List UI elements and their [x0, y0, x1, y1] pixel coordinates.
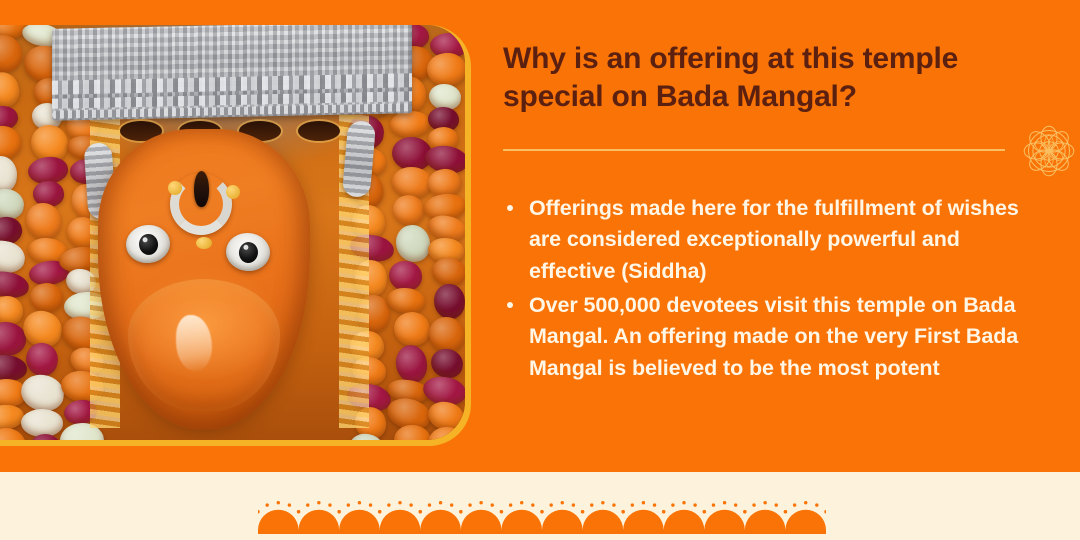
- marigold-flower: [19, 372, 67, 413]
- marigold-flower: [433, 283, 465, 319]
- marigold-flower: [427, 426, 465, 440]
- marigold-flower: [429, 83, 462, 110]
- tilak-bead: [196, 237, 212, 249]
- marigold-flower: [392, 167, 432, 198]
- silver-canopy-panel: [52, 25, 412, 121]
- marigold-flower: [0, 69, 23, 110]
- tilak-bead: [168, 181, 182, 195]
- bullet-text: Offerings made here for the fulfillment …: [529, 196, 1019, 283]
- canopy-band-lower: [52, 91, 412, 109]
- marigold-flower: [430, 347, 465, 380]
- marigold-flower: [394, 344, 428, 384]
- deity-eye-right: [224, 231, 271, 273]
- divider-row: [503, 139, 1043, 197]
- content-column: Why is an offering at this temple specia…: [503, 40, 1043, 386]
- marigold-flower: [392, 310, 432, 348]
- bullet-text: Over 500,000 devotees visit this temple …: [529, 293, 1018, 380]
- scalloped-arch-border: [258, 486, 826, 536]
- bullet-list: Offerings made here for the fulfillment …: [503, 193, 1043, 385]
- marigold-flower: [29, 281, 65, 313]
- marigold-flower: [0, 34, 22, 72]
- slide-canvas: Why is an offering at this temple specia…: [0, 0, 1080, 540]
- marigold-flower: [0, 295, 23, 325]
- marigold-flower: [429, 316, 465, 352]
- marigold-flower: [0, 354, 27, 381]
- marigold-flower: [389, 261, 422, 292]
- tilak-bead: [226, 185, 240, 199]
- bullet-dot-icon: [507, 205, 513, 211]
- temple-photo-frame: [0, 25, 471, 446]
- marigold-flower: [395, 223, 431, 262]
- slide-title: Why is an offering at this temple specia…: [503, 40, 1043, 117]
- marigold-flower: [394, 425, 432, 440]
- mandala-rosette-icon: [1018, 120, 1080, 182]
- list-item: Offerings made here for the fulfillment …: [503, 193, 1043, 288]
- pupil: [138, 233, 159, 256]
- plaque: [298, 121, 340, 141]
- marigold-flower: [390, 193, 427, 229]
- gold-divider-line: [503, 149, 1005, 151]
- pupil: [238, 241, 259, 264]
- marigold-flower: [20, 408, 63, 437]
- temple-deity-photo: [0, 25, 465, 440]
- forehead-tilak-drop: [194, 171, 209, 207]
- list-item: Over 500,000 devotees visit this temple …: [503, 290, 1043, 385]
- deity-eye-left: [124, 223, 172, 265]
- marigold-flower: [387, 287, 426, 313]
- marigold-flower: [25, 202, 60, 238]
- marigold-flower: [0, 238, 27, 276]
- marigold-flower: [23, 340, 62, 379]
- marigold-flower: [431, 257, 465, 286]
- bullet-dot-icon: [507, 302, 513, 308]
